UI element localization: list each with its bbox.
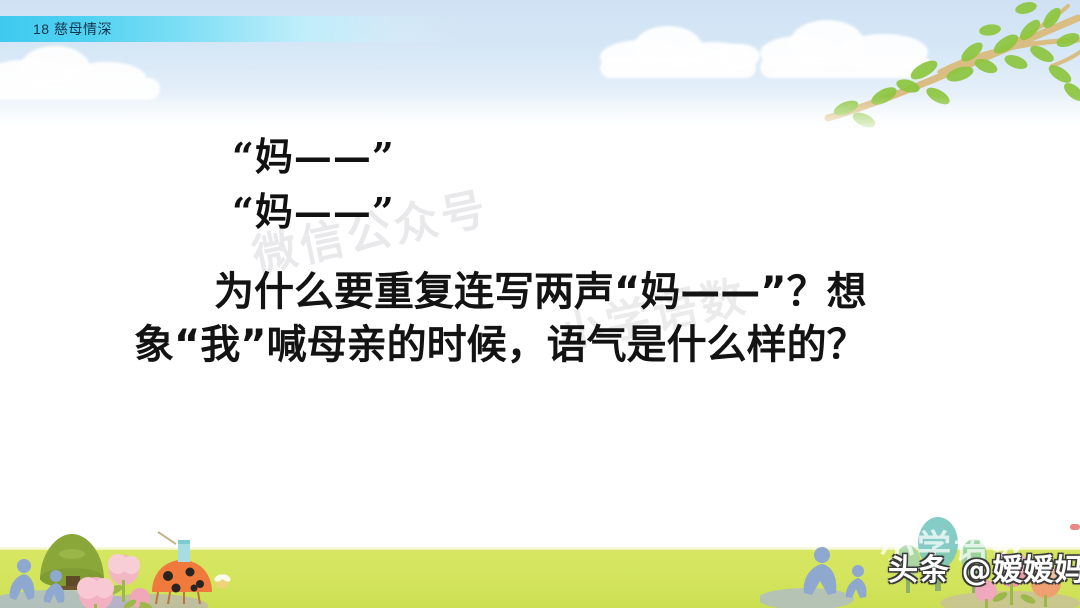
left-scene-icon <box>0 518 360 608</box>
quote-line-2: “妈——” <box>232 181 395 236</box>
deco-left-scene <box>0 518 360 608</box>
page-title: 18 慈母情深 <box>33 19 112 39</box>
deco-right-scene <box>760 513 1080 608</box>
right-scene-icon <box>760 513 1080 608</box>
slide-canvas: 18 慈母情深 微信公众号 小学语数 “妈——” “妈——” 为什么要重复连写两… <box>0 0 1080 608</box>
question-paragraph: 为什么要重复连写两声“妈——”？想象“我”喊母亲的时候，语气是什么样的？ <box>134 266 924 372</box>
deco-red-dot <box>1070 524 1080 530</box>
sky-white-fade <box>0 96 1080 166</box>
quote-line-1: “妈——” <box>232 126 395 181</box>
